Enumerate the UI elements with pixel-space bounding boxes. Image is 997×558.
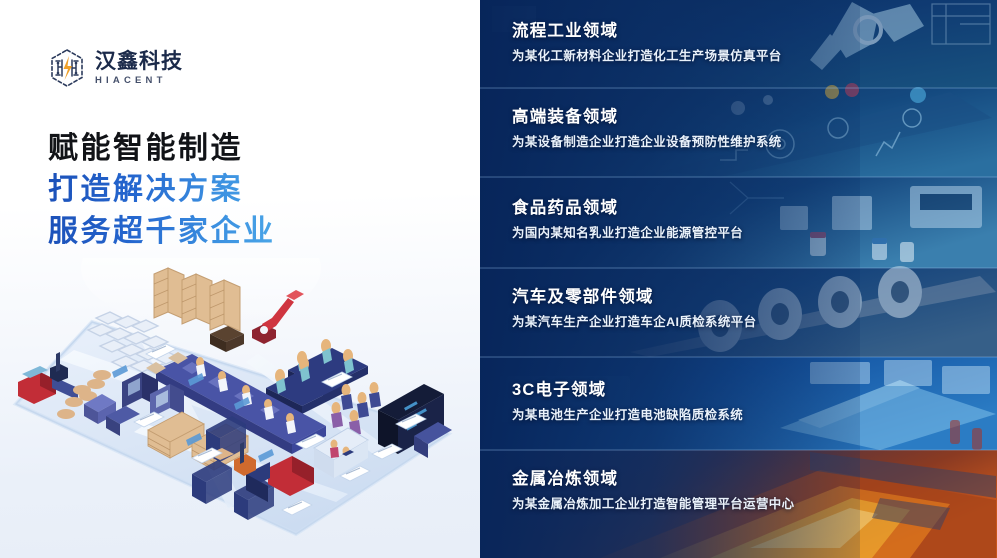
- right-panel: 流程工业领域 为某化工新材料企业打造化工生产场景仿真平台 高端装备领域 为某设备…: [480, 0, 997, 558]
- headline-line-3: 服务超千家企业: [48, 211, 276, 252]
- isometric-smart-factory-illustration: [0, 258, 480, 558]
- section-3c-electronics[interactable]: 3C电子领域 为某电池生产企业打造电池缺陷质检系统: [480, 357, 997, 450]
- section-description: 为某电池生产企业打造电池缺陷质检系统: [512, 408, 997, 423]
- section-title: 汽车及零部件领域: [512, 288, 997, 308]
- headline-block: 赋能智能制造 打造解决方案 服务超千家企业: [48, 128, 276, 252]
- section-automotive-and-parts[interactable]: 汽车及零部件领域 为某汽车生产企业打造车企AI质检系统平台: [480, 268, 997, 357]
- brand-name-en: HIACENT: [95, 76, 183, 86]
- brand-logo[interactable]: 汉鑫科技 HIACENT: [48, 48, 183, 88]
- hexagon-circuit-logo-icon: [48, 48, 86, 88]
- section-title: 高端装备领域: [512, 108, 997, 128]
- left-panel: 汉鑫科技 HIACENT 赋能智能制造 打造解决方案 服务超千家企业: [0, 0, 480, 558]
- industry-sections-list: 流程工业领域 为某化工新材料企业打造化工生产场景仿真平台 高端装备领域 为某设备…: [480, 0, 997, 558]
- section-description: 为某金属冶炼加工企业打造智能管理平台运营中心: [512, 497, 997, 512]
- headline-line-2: 打造解决方案: [48, 169, 276, 210]
- section-food-and-pharma[interactable]: 食品药品领域 为国内某知名乳业打造企业能源管控平台: [480, 177, 997, 268]
- section-metal-smelting[interactable]: 金属冶炼领域 为某金属冶炼加工企业打造智能管理平台运营中心: [480, 450, 997, 558]
- headline-line-1: 赋能智能制造: [48, 128, 276, 169]
- section-description: 为某设备制造企业打造企业设备预防性维护系统: [512, 135, 997, 150]
- section-title: 食品药品领域: [512, 199, 997, 219]
- section-title: 金属冶炼领域: [512, 470, 997, 490]
- section-title: 3C电子领域: [512, 381, 997, 401]
- section-process-industry[interactable]: 流程工业领域 为某化工新材料企业打造化工生产场景仿真平台: [480, 0, 997, 88]
- slide-root: 汉鑫科技 HIACENT 赋能智能制造 打造解决方案 服务超千家企业: [0, 0, 997, 558]
- brand-text: 汉鑫科技 HIACENT: [95, 51, 183, 86]
- section-description: 为国内某知名乳业打造企业能源管控平台: [512, 226, 997, 241]
- section-high-end-equipment[interactable]: 高端装备领域 为某设备制造企业打造企业设备预防性维护系统: [480, 88, 997, 177]
- brand-name-cn: 汉鑫科技: [95, 51, 183, 73]
- section-description: 为某化工新材料企业打造化工生产场景仿真平台: [512, 49, 997, 64]
- section-title: 流程工业领域: [512, 22, 997, 42]
- section-description: 为某汽车生产企业打造车企AI质检系统平台: [512, 315, 997, 330]
